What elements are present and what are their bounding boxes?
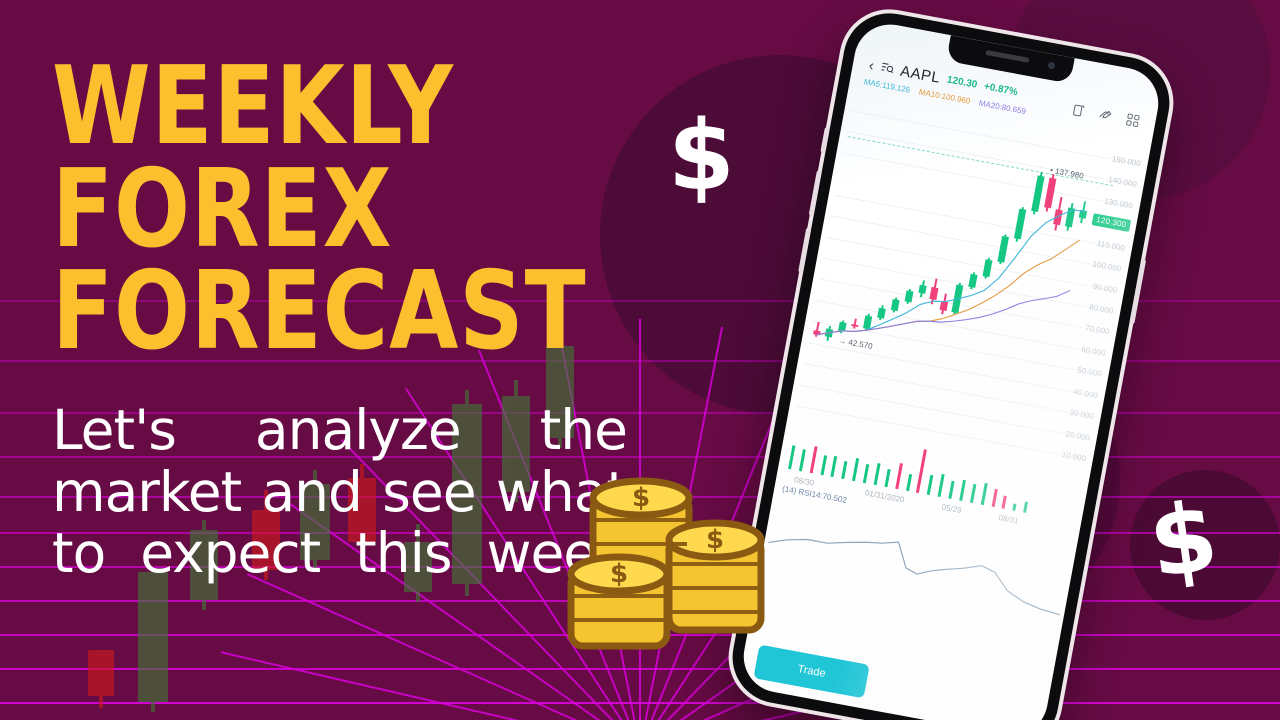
volume-bar bbox=[927, 475, 934, 495]
grid-apps-icon[interactable] bbox=[1125, 113, 1141, 130]
volume-bar bbox=[1013, 503, 1017, 510]
candle-body bbox=[138, 572, 168, 702]
svg-text:$: $ bbox=[610, 559, 628, 589]
volume-bar bbox=[916, 449, 927, 493]
page-title: WEEKLY FOREX FORECAST bbox=[52, 56, 752, 364]
volume-bar bbox=[820, 455, 827, 475]
svg-text:$: $ bbox=[632, 483, 650, 513]
volume-bar bbox=[852, 458, 859, 481]
title-line-2: FORECAST bbox=[52, 261, 696, 364]
front-camera bbox=[1047, 61, 1055, 69]
draw-pen-icon[interactable] bbox=[1097, 108, 1113, 125]
x-axis-label: 01/31/2020 bbox=[864, 488, 905, 504]
phone-screen: ‹ AAPL 120.30 +0.87% MA5:119.126 MA10:10… bbox=[738, 19, 1164, 720]
volume-bar bbox=[906, 474, 912, 491]
search-list-icon[interactable] bbox=[880, 61, 895, 77]
volume-bar bbox=[980, 483, 987, 505]
x-axis-label: 05/29 bbox=[941, 503, 962, 515]
volume-bar bbox=[799, 449, 806, 471]
volume-bar bbox=[874, 463, 881, 485]
coin-stack-illustration: $ $ $ bbox=[565, 468, 765, 668]
volume-bar bbox=[831, 456, 838, 477]
dollar-sign-icon-title: $ bbox=[668, 108, 735, 204]
volume-bar bbox=[938, 474, 945, 497]
x-axis-label: 08/31 bbox=[998, 513, 1019, 525]
ma20-label: MA20:80.659 bbox=[978, 99, 1026, 117]
candlestick-chart[interactable]: 150.000140.000130.000110.000100.00090.00… bbox=[790, 109, 1148, 460]
poster-canvas: WEEKLY FOREX FORECAST $ $ Let's analyze … bbox=[0, 0, 1280, 720]
volume-bar bbox=[970, 483, 976, 503]
volume-bar bbox=[788, 445, 795, 469]
volume-bar bbox=[991, 489, 997, 507]
screen-rotate-icon[interactable] bbox=[1072, 103, 1086, 120]
volume-bar bbox=[895, 464, 903, 490]
volume-bar bbox=[842, 461, 848, 479]
volume-bar bbox=[884, 468, 890, 487]
phone-mockup: ‹ AAPL 120.30 +0.87% MA5:119.126 MA10:10… bbox=[690, 18, 1190, 720]
title-line-1: WEEKLY FOREX bbox=[52, 56, 696, 261]
dollar-sign-icon-right: $ bbox=[1144, 488, 1224, 592]
volume-bar bbox=[1023, 501, 1028, 513]
volume-bar bbox=[959, 480, 966, 501]
trade-button[interactable]: Trade bbox=[753, 645, 869, 699]
svg-text:$: $ bbox=[706, 525, 724, 555]
volume-bar bbox=[809, 446, 817, 473]
trading-app: ‹ AAPL 120.30 +0.87% MA5:119.126 MA10:10… bbox=[738, 19, 1164, 720]
candle-body bbox=[88, 650, 114, 696]
volume-bar bbox=[948, 480, 954, 499]
volume-bar bbox=[1002, 495, 1007, 509]
moving-average-overlays bbox=[790, 109, 1148, 460]
subtitle-text: Let's analyze the market and see what to… bbox=[52, 400, 627, 585]
chevron-left-icon[interactable]: ‹ bbox=[868, 58, 876, 74]
subtitle: Let's analyze the market and see what to… bbox=[52, 400, 627, 585]
earpiece-speaker bbox=[985, 50, 1029, 63]
volume-bar bbox=[863, 464, 869, 484]
